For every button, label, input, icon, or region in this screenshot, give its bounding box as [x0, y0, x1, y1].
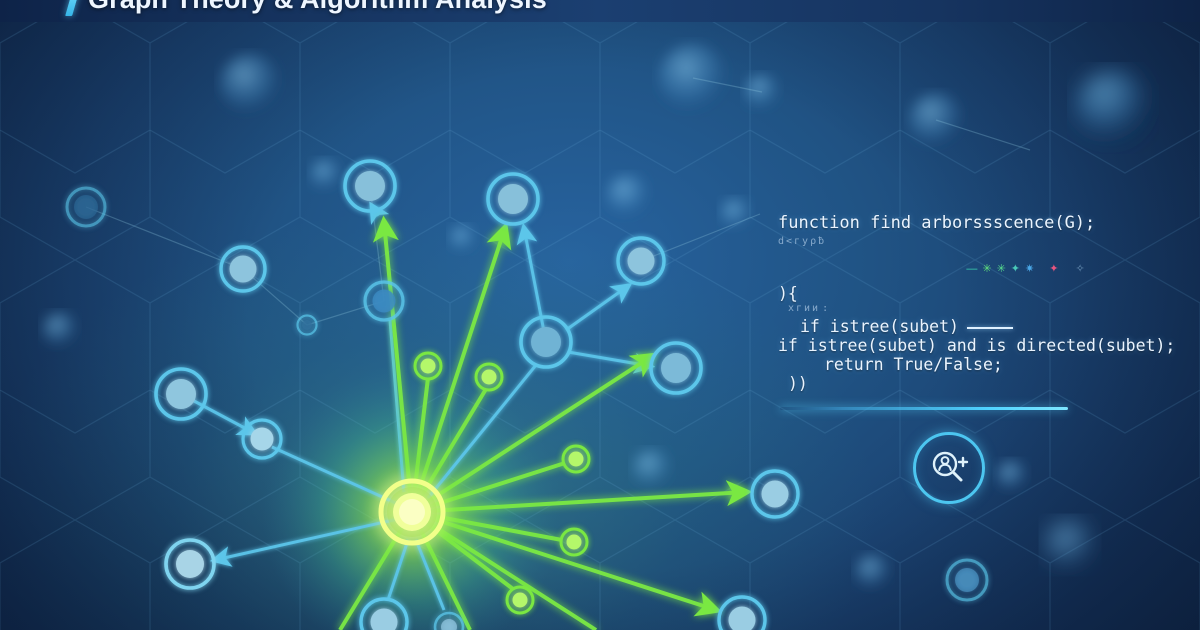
- code-if-1-text: if istree(subet): [800, 317, 959, 336]
- code-snippet-panel: function find arborssscence(G); d<гyρƀ —…: [778, 214, 1178, 393]
- page-title: Graph Theory & Algorithm Analysis: [88, 0, 547, 15]
- spark-1: ✳: [982, 262, 996, 275]
- code-spark-row: —✳✳✦✷✦✧: [778, 250, 1178, 268]
- magnifier-glyph: [929, 449, 969, 487]
- code-glyph-line-2: хгии:: [778, 303, 1178, 317]
- spark-0: —: [966, 263, 982, 275]
- code-underline-bar: [780, 407, 1068, 410]
- slash-accent-icon: [65, 0, 82, 16]
- title-bar: Graph Theory & Algorithm Analysis: [0, 0, 1200, 22]
- code-line-close: )): [778, 374, 1178, 393]
- spark-3: ✦: [1011, 262, 1025, 275]
- code-line-function: function find arborssscence(G);: [778, 214, 1178, 233]
- code-dash-icon: [967, 327, 1013, 329]
- code-line-if-1: if istree(subet): [778, 317, 1178, 336]
- code-line-return: return True/False;: [778, 355, 1178, 374]
- spark-4: ✷: [1025, 262, 1039, 275]
- search-user-zoom-in-icon[interactable]: [913, 432, 985, 504]
- code-line-paren-open: ){: [778, 284, 1178, 303]
- title-row: Graph Theory & Algorithm Analysis: [70, 0, 547, 16]
- code-line-if-2: if istree(subet) and is directed(subet);: [778, 336, 1178, 355]
- spark-2: ✳: [997, 262, 1011, 275]
- hub-node: [381, 481, 443, 543]
- code-glyph-line-1: d<гyρƀ: [778, 236, 1178, 250]
- spark-6: ✧: [1075, 262, 1089, 275]
- graph-theory-hero-banner: Graph Theory & Algorithm Analysis functi…: [0, 0, 1200, 630]
- spark-5: ✦: [1049, 262, 1063, 275]
